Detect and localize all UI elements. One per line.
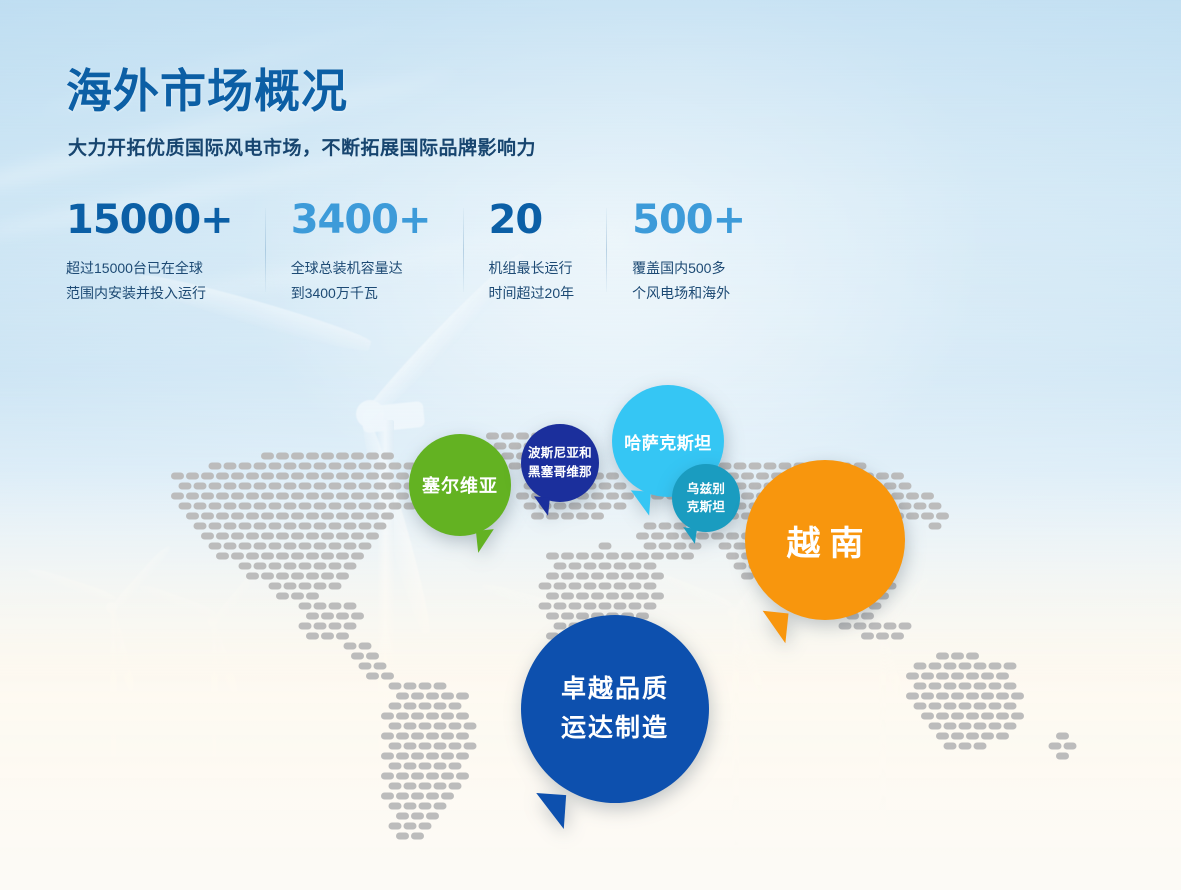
stat-label: 覆盖国内500多 个风电场和海外 (632, 256, 745, 305)
bubble-tail (532, 496, 550, 516)
stat-item-capacity: 3400+ 全球总装机容量达 到3400万千瓦 (265, 200, 453, 305)
map-bubble-uzbekistan[interactable]: 乌兹别 克斯坦 (672, 464, 740, 532)
bubble-tail (760, 611, 789, 644)
stat-item-operating-years: 20 机组最长运行 时间超过20年 (463, 200, 597, 305)
bubble-tail (476, 529, 496, 553)
stat-value: 20 (489, 200, 575, 240)
page-header: 海外市场概况 大力开拓优质国际风电市场，不断拓展国际品牌影响力 (66, 66, 536, 160)
bubble-tail (681, 527, 697, 544)
bubble-tail (629, 490, 651, 515)
page-subtitle: 大力开拓优质国际风电市场，不断拓展国际品牌影响力 (68, 133, 536, 160)
map-bubble-bosnia-and-herzegovina[interactable]: 波斯尼亚和 黑塞哥维那 (521, 424, 599, 502)
page-title: 海外市场概况 (66, 66, 536, 117)
stat-value: 3400+ (291, 200, 431, 240)
stat-value: 15000+ (66, 200, 233, 240)
map-bubble-vietnam[interactable]: 越南 (745, 460, 905, 620)
stat-item-wind-farms: 500+ 覆盖国内500多 个风电场和海外 (606, 200, 767, 305)
stat-label: 超过15000台已在全球 范围内安装并投入运行 (66, 256, 233, 305)
bubble-label: 哈萨克斯坦 (624, 429, 712, 454)
statistics-row: 15000+ 超过15000台已在全球 范围内安装并投入运行 3400+ 全球总… (66, 200, 777, 305)
bubble-label: 波斯尼亚和 黑塞哥维那 (528, 444, 592, 482)
infographic-page: 海外市场概况 大力开拓优质国际风电市场，不断拓展国际品牌影响力 15000+ 超… (0, 0, 1181, 890)
bubble-tail (534, 793, 566, 829)
bubble-label: 越南 (778, 516, 873, 565)
stat-label: 全球总装机容量达 到3400万千瓦 (291, 256, 431, 305)
bubble-label: 塞尔维亚 (422, 472, 498, 498)
stat-value: 500+ (632, 200, 745, 240)
map-bubble-serbia[interactable]: 塞尔维亚 (409, 434, 511, 536)
brand-slogan-text: 卓越品质 运达制造 (561, 670, 669, 748)
bubble-label: 乌兹别 克斯坦 (687, 480, 725, 516)
stat-item-installed-units: 15000+ 超过15000台已在全球 范围内安装并投入运行 (66, 200, 255, 305)
stat-label: 机组最长运行 时间超过20年 (489, 256, 575, 305)
brand-slogan-bubble[interactable]: 卓越品质 运达制造 (521, 615, 709, 803)
